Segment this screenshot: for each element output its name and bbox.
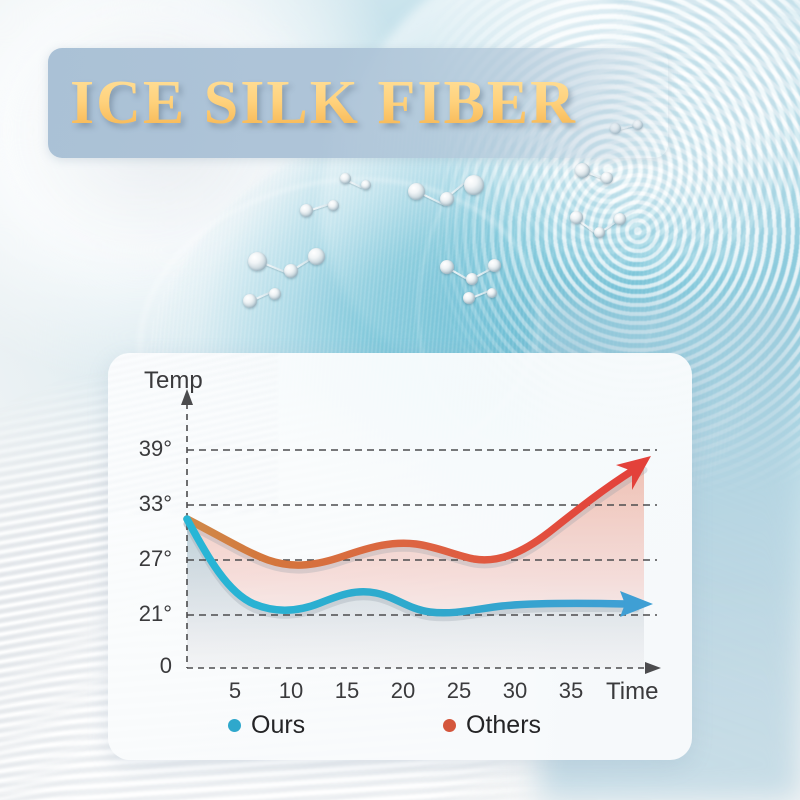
y-axis-title: Temp <box>144 367 203 395</box>
chart-legend: Ours Others <box>108 705 692 751</box>
legend-label-ours: Ours <box>251 711 305 740</box>
legend-item-others[interactable]: Others <box>443 711 541 740</box>
legend-item-ours[interactable]: Ours <box>228 711 305 740</box>
x-tick-25: 25 <box>437 678 481 704</box>
x-tick-20: 20 <box>381 678 425 704</box>
y-tick-27: 27° <box>110 546 172 572</box>
y-tick-0: 0 <box>110 653 172 679</box>
x-tick-5: 5 <box>213 678 257 704</box>
y-tick-21: 21° <box>110 601 172 627</box>
y-tick-33: 33° <box>110 491 172 517</box>
x-tick-10: 10 <box>269 678 313 704</box>
x-tick-35: 35 <box>549 678 593 704</box>
x-tick-15: 15 <box>325 678 369 704</box>
x-axis-arrow-icon <box>645 662 661 674</box>
x-axis-title: Time <box>606 678 658 706</box>
ours-legend-dot-icon <box>228 719 241 732</box>
y-tick-39: 39° <box>110 436 172 462</box>
page-title: ICE SILK FIBER <box>70 56 770 150</box>
x-tick-30: 30 <box>493 678 537 704</box>
others-legend-dot-icon <box>443 719 456 732</box>
temperature-chart-card: Temp 39° 33° 27° 21° 0 5 10 15 20 25 30 … <box>108 353 692 760</box>
legend-label-others: Others <box>466 711 541 740</box>
